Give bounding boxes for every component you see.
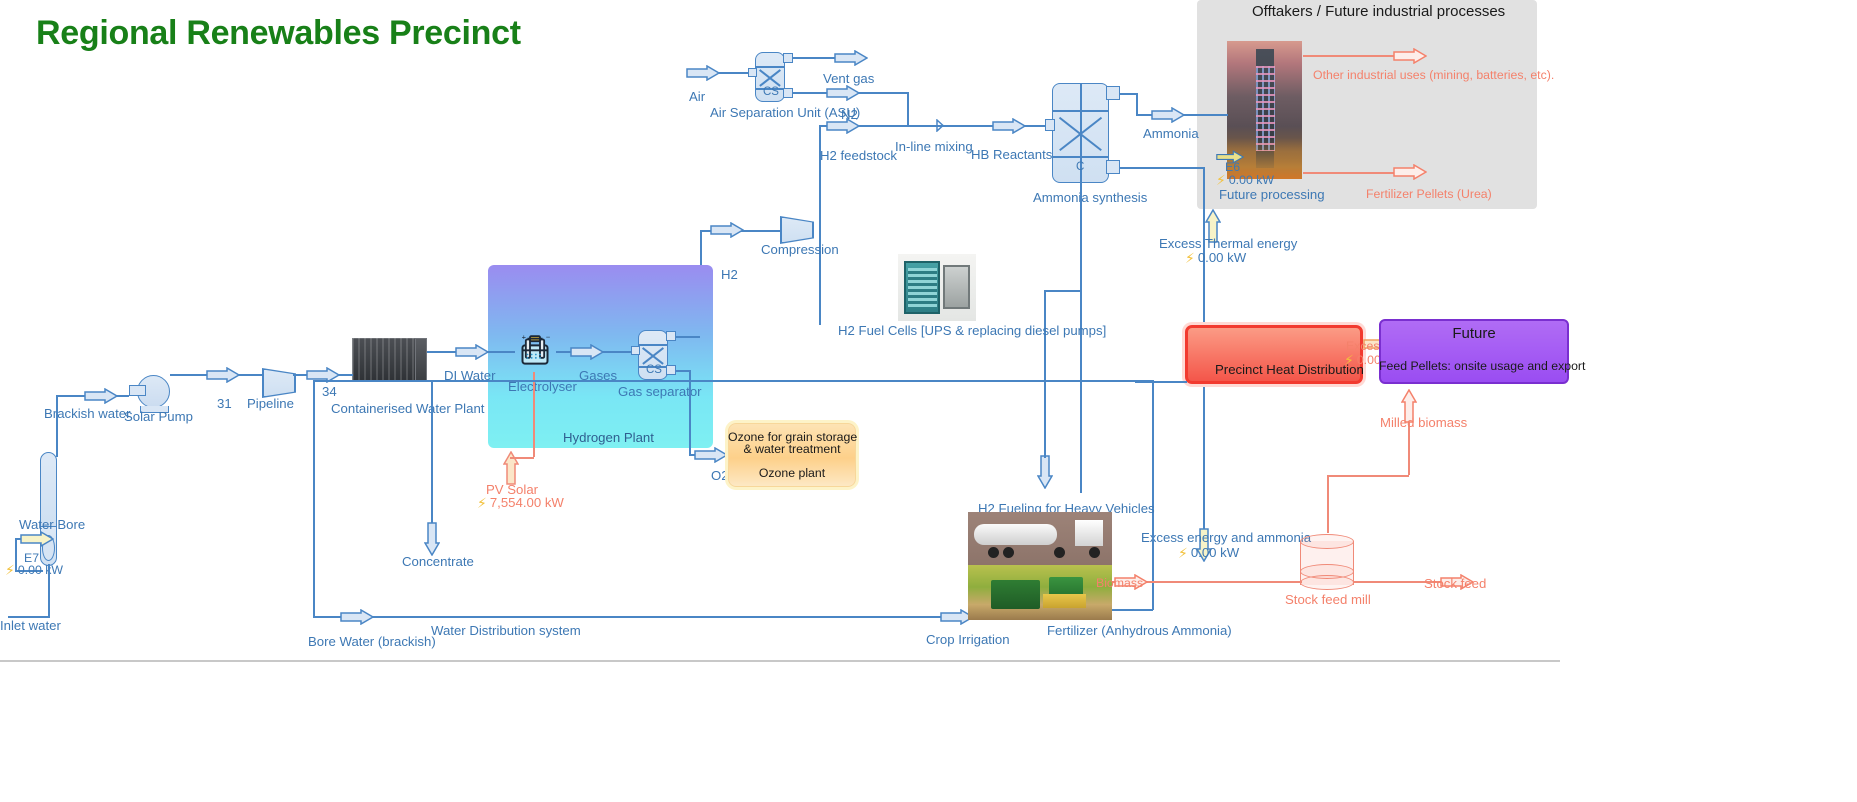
h2-feedstock-label: H2 feedstock (820, 148, 897, 163)
excess-thermal-value: 0.00 kW (1198, 250, 1246, 265)
ammonia-synthesis-tag: C (1076, 161, 1084, 174)
fertilizer-label: Fertilizer (Anhydrous Ammonia) (1047, 623, 1232, 638)
o2-arrow-icon (694, 447, 728, 463)
hb-reactants-label: HB Reactants (971, 147, 1052, 162)
containerised-water-plant-image (352, 338, 427, 382)
biomass-label: Biomass (1096, 576, 1143, 590)
milled-biomass-label: Milled biomass (1380, 415, 1467, 430)
vent-gas-label: Vent gas (823, 71, 874, 86)
bore-e7-value-row: ⚡ 0.00 kW (5, 562, 63, 578)
pv-solar-value-row: ⚡ 7,554.00 kW (477, 495, 564, 511)
water-distribution-label: Water Distribution system (431, 623, 581, 638)
water-distribution-arrow-icon (340, 609, 374, 625)
vent-gas-arrow-icon (834, 50, 868, 66)
gas-separator-o2-port (666, 365, 676, 375)
brackish-water-arrow-icon (84, 388, 118, 404)
bore-e7-value: 0.00 kW (18, 563, 63, 577)
fertilizer-pellets-label: Fertilizer Pellets (Urea) (1366, 187, 1492, 201)
pump-out-arrow-icon (206, 367, 240, 383)
hydrogen-plant-label: Hydrogen Plant (563, 430, 654, 445)
inlet-water-label: Inlet water (0, 618, 61, 633)
diagram-canvas: Regional Renewables Precinct Offtakers /… (0, 0, 1857, 802)
offtakers-title: Offtakers / Future industrial processes (1252, 3, 1505, 20)
h2-fuel-cells-label: H2 Fuel Cells [UPS & replacing diesel pu… (838, 323, 1106, 338)
ozone-line3: Ozone plant (728, 466, 856, 480)
future-subtitle: Feed Pellets: onsite usage and export (1379, 359, 1569, 373)
excess-thermal-value-row: ⚡ 0.00 kW (1185, 250, 1246, 266)
asu-inlet-port (748, 68, 757, 77)
bolt-icon: ⚡ (5, 562, 15, 578)
svg-text:+: + (522, 333, 527, 342)
ammonia-label: Ammonia (1143, 126, 1199, 141)
h2-feedstock-arrow-icon (826, 118, 860, 134)
water-bore-unit (40, 452, 57, 564)
pv-solar-value: 7,554.00 kW (490, 495, 564, 510)
water-bore-label: Water Bore (19, 517, 85, 532)
compression-label: Compression (761, 242, 839, 257)
biomass-harvest-image (968, 565, 1112, 620)
ozone-line2: & water treatment (728, 442, 856, 456)
excess-energy-ammonia-value: 0.00 kW (1191, 545, 1239, 560)
h2-fuel-cells-image (898, 254, 976, 321)
stock-feed-mill-unit (1300, 533, 1354, 591)
electrolyser-icon: + − (515, 332, 555, 372)
ammonia-top-port (1106, 86, 1120, 100)
ammonia-bottom-port (1106, 160, 1120, 174)
bolt-icon: ⚡ (1216, 172, 1226, 188)
h2-label: H2 (721, 267, 738, 282)
bolt-icon: ⚡ (1185, 250, 1195, 266)
crop-irrigation-label: Crop Irrigation (926, 632, 1010, 647)
bore-water-label: Bore Water (brackish) (308, 634, 436, 649)
in-line-mixing-label: In-line mixing (895, 139, 973, 154)
asu-vent-port (783, 53, 793, 63)
n2-arrow-icon (826, 85, 860, 101)
di-water-arrow-icon (455, 344, 489, 360)
excess-energy-ammonia-value-row: ⚡ 0.00 kW (1178, 545, 1239, 561)
h2-truck-image (968, 512, 1112, 565)
bore-return-arrow-icon (20, 531, 54, 547)
hb-reactants-arrow-icon (992, 118, 1026, 134)
future-title: Future (1379, 325, 1569, 342)
containerised-water-plant-label: Containerised Water Plant (331, 401, 484, 416)
gases-arrow-icon (570, 344, 604, 360)
excess-energy-ammonia-label: Excess energy and ammonia (1141, 530, 1311, 545)
page-title: Regional Renewables Precinct (36, 14, 521, 53)
future-processing-label: Future processing (1219, 187, 1325, 202)
air-label: Air (689, 89, 705, 104)
gas-separator-inlet-port (631, 346, 640, 355)
concentrate-label: Concentrate (402, 554, 474, 569)
air-inlet-arrow-icon (686, 65, 720, 81)
bolt-icon: ⚡ (477, 495, 487, 511)
precinct-heat-distribution-label: Precinct Heat Distribution (1215, 362, 1364, 377)
h2-fueling-down-arrow-icon (1037, 455, 1053, 489)
bottom-divider (0, 660, 1560, 662)
asu-n2-port (783, 88, 793, 98)
solar-pump-unit (137, 375, 170, 408)
other-industrial-uses-label: Other industrial uses (mining, batteries… (1313, 68, 1554, 82)
mixing-tee-icon (936, 119, 948, 132)
svg-text:−: − (546, 333, 551, 342)
fertilizer-pellets-arrow-icon (1393, 164, 1427, 180)
other-industrial-arrow-icon (1393, 48, 1427, 64)
excess-thermal-label: Excess Thermal energy (1159, 236, 1297, 251)
stream-31-label: 31 (217, 396, 232, 411)
bolt-icon: ⚡ (1178, 545, 1188, 561)
gas-separator-tag: CS (646, 364, 662, 377)
gas-separator-h2-port (666, 331, 676, 341)
solar-pump-label: Solar Pump (124, 409, 193, 424)
bolt-icon: ⚡ (1344, 352, 1354, 368)
stream-34-label: 34 (322, 384, 337, 399)
future-processing-e6-value-row: ⚡ 0.00 kW (1216, 172, 1274, 188)
o2-label: O2 (711, 468, 729, 483)
compression-in-arrow-icon (710, 222, 744, 238)
ammonia-inlet-port (1045, 119, 1055, 131)
ammonia-synthesis-label: Ammonia synthesis (1033, 190, 1147, 205)
asu-tag: CS (763, 86, 779, 99)
stock-feed-label: Stock feed (1424, 576, 1486, 591)
stock-feed-mill-label: Stock feed mill (1285, 592, 1371, 607)
pipeline-label: Pipeline (247, 396, 294, 411)
concentrate-down-arrow-icon (424, 522, 440, 556)
future-processing-e6-value: 0.00 kW (1229, 173, 1274, 187)
ammonia-arrow-icon (1151, 107, 1185, 123)
